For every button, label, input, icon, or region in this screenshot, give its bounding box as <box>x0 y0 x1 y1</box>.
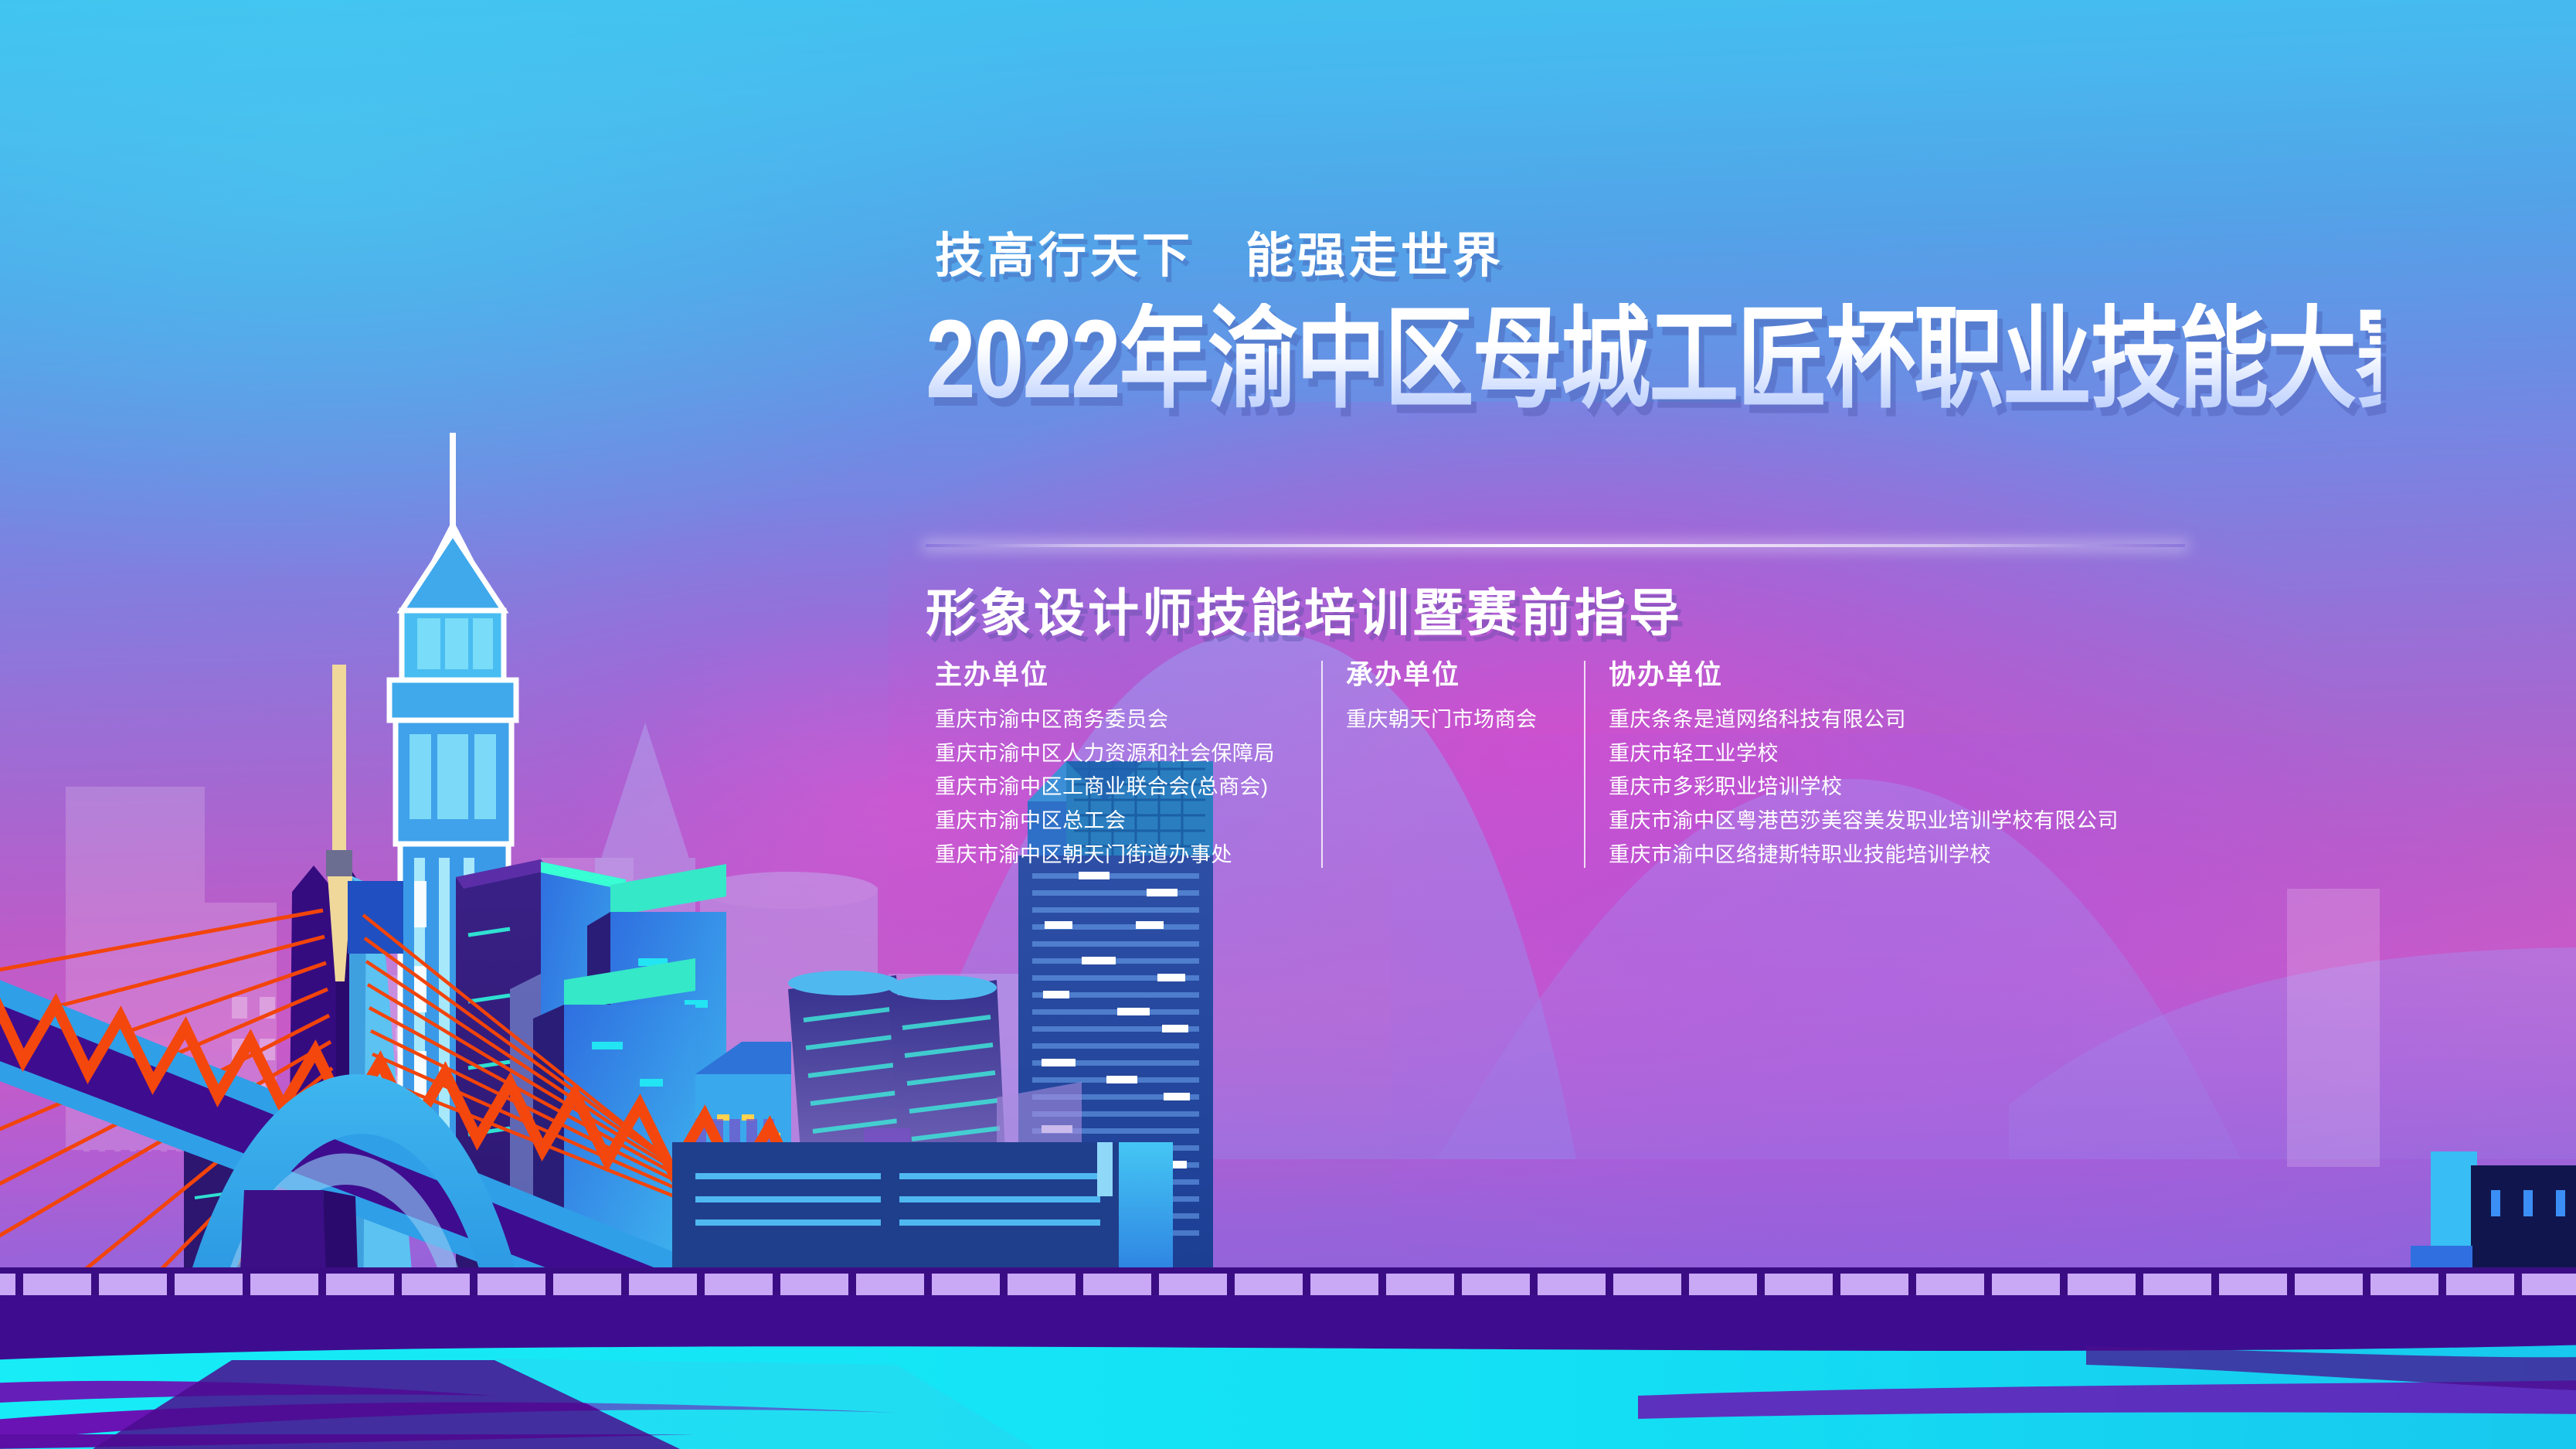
list-item: 重庆条条是道网络科技有限公司 <box>1609 703 2279 737</box>
organizer-list-organizer: 重庆朝天门市场商会 <box>1346 703 1584 737</box>
poster-main-title: 2022年渝中区母城工匠杯职业技能大赛 <box>926 303 2381 417</box>
list-item: 重庆市渝中区商务委员会 <box>935 703 1321 737</box>
poster-tagline: 技高行天下 能强走世界 <box>935 216 2403 286</box>
organizer-column-coorganizer: 协办单位 重庆条条是道网络科技有限公司 重庆市轻工业学校 重庆市多彩职业培训学校… <box>1584 653 2279 872</box>
list-item: 重庆市渝中区络捷斯特职业技能培训学校 <box>1609 838 2279 872</box>
list-item: 重庆市多彩职业培训学校 <box>1609 770 2279 804</box>
list-item: 重庆市渝中区工商业联合会(总商会) <box>935 770 1321 804</box>
poster-text-block: 技高行天下 能强走世界 2022年渝中区母城工匠杯职业技能大赛 形象设计师技能培… <box>935 216 2403 397</box>
organizer-heading-organizer: 承办单位 <box>1346 653 1584 692</box>
title-divider-rule <box>926 544 2185 547</box>
organizer-list-host: 重庆市渝中区商务委员会 重庆市渝中区人力资源和社会保障局 重庆市渝中区工商业联合… <box>935 703 1321 872</box>
list-item: 重庆市渝中区人力资源和社会保障局 <box>935 737 1321 771</box>
list-item: 重庆市渝中区朝天门街道办事处 <box>935 838 1321 872</box>
organizer-column-organizer: 承办单位 重庆朝天门市场商会 <box>1321 653 1584 737</box>
list-item: 重庆市渝中区总工会 <box>935 804 1321 838</box>
organizer-heading-coorganizer: 协办单位 <box>1609 653 2279 692</box>
list-item: 重庆朝天门市场商会 <box>1346 703 1584 737</box>
river <box>0 1345 2576 1449</box>
poster-canvas: 技高行天下 能强走世界 2022年渝中区母城工匠杯职业技能大赛 形象设计师技能培… <box>0 0 2576 1449</box>
list-item: 重庆市渝中区粤港芭莎美容美发职业培训学校有限公司 <box>1609 804 2279 838</box>
organizers-section: 主办单位 重庆市渝中区商务委员会 重庆市渝中区人力资源和社会保障局 重庆市渝中区… <box>935 653 2279 872</box>
organizer-list-coorganizer: 重庆条条是道网络科技有限公司 重庆市轻工业学校 重庆市多彩职业培训学校 重庆市渝… <box>1609 703 2279 872</box>
organizer-heading-host: 主办单位 <box>935 653 1321 692</box>
poster-subtitle: 形象设计师技能培训暨赛前指导 <box>926 572 1683 646</box>
main-title-group: 2022年渝中区母城工匠杯职业技能大赛 形象设计师技能培训暨赛前指导 <box>926 303 2403 397</box>
organizer-column-host: 主办单位 重庆市渝中区商务委员会 重庆市渝中区人力资源和社会保障局 重庆市渝中区… <box>935 653 1321 872</box>
list-item: 重庆市轻工业学校 <box>1609 737 2279 771</box>
